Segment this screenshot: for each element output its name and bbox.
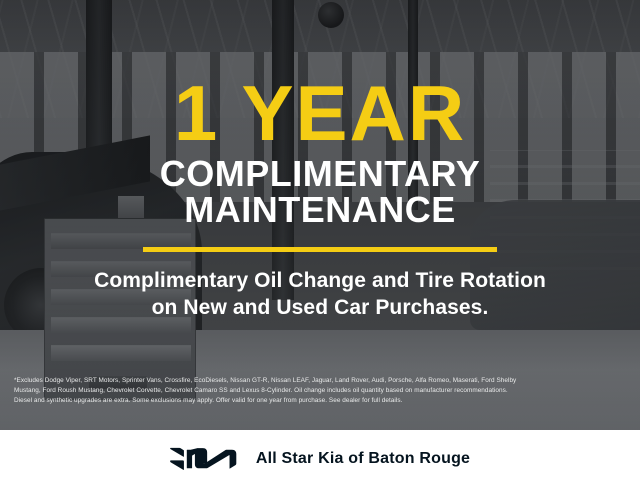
subheadline: Complimentary Oil Change and Tire Rotati… [94, 268, 546, 322]
headline-secondary-line2: MAINTENANCE [184, 192, 456, 229]
hero-content: 1 YEAR COMPLIMENTARY MAINTENANCE Complim… [0, 0, 640, 430]
accent-divider [143, 247, 497, 252]
disclaimer-line-1: *Excludes Dodge Viper, SRT Motors, Sprin… [14, 376, 626, 386]
footer-bar: All Star Kia of Baton Rouge [0, 430, 640, 488]
disclaimer-line-3: Diesel and synthetic upgrades are extra.… [14, 396, 626, 406]
dealer-name: All Star Kia of Baton Rouge [256, 450, 470, 468]
kia-logo [170, 447, 242, 471]
headline-secondary-line1: COMPLIMENTARY [160, 156, 480, 193]
subheadline-line1: Complimentary Oil Change and Tire Rotati… [94, 268, 546, 295]
disclaimer-line-2: Mustang, Ford Roush Mustang, Chevrolet C… [14, 386, 626, 396]
headline-primary: 1 YEAR [174, 78, 466, 150]
subheadline-line2: on New and Used Car Purchases. [94, 295, 546, 322]
hero-section: 1 YEAR COMPLIMENTARY MAINTENANCE Complim… [0, 0, 640, 430]
promotional-banner: 1 YEAR COMPLIMENTARY MAINTENANCE Complim… [0, 0, 640, 488]
disclaimer-text: *Excludes Dodge Viper, SRT Motors, Sprin… [0, 376, 640, 406]
